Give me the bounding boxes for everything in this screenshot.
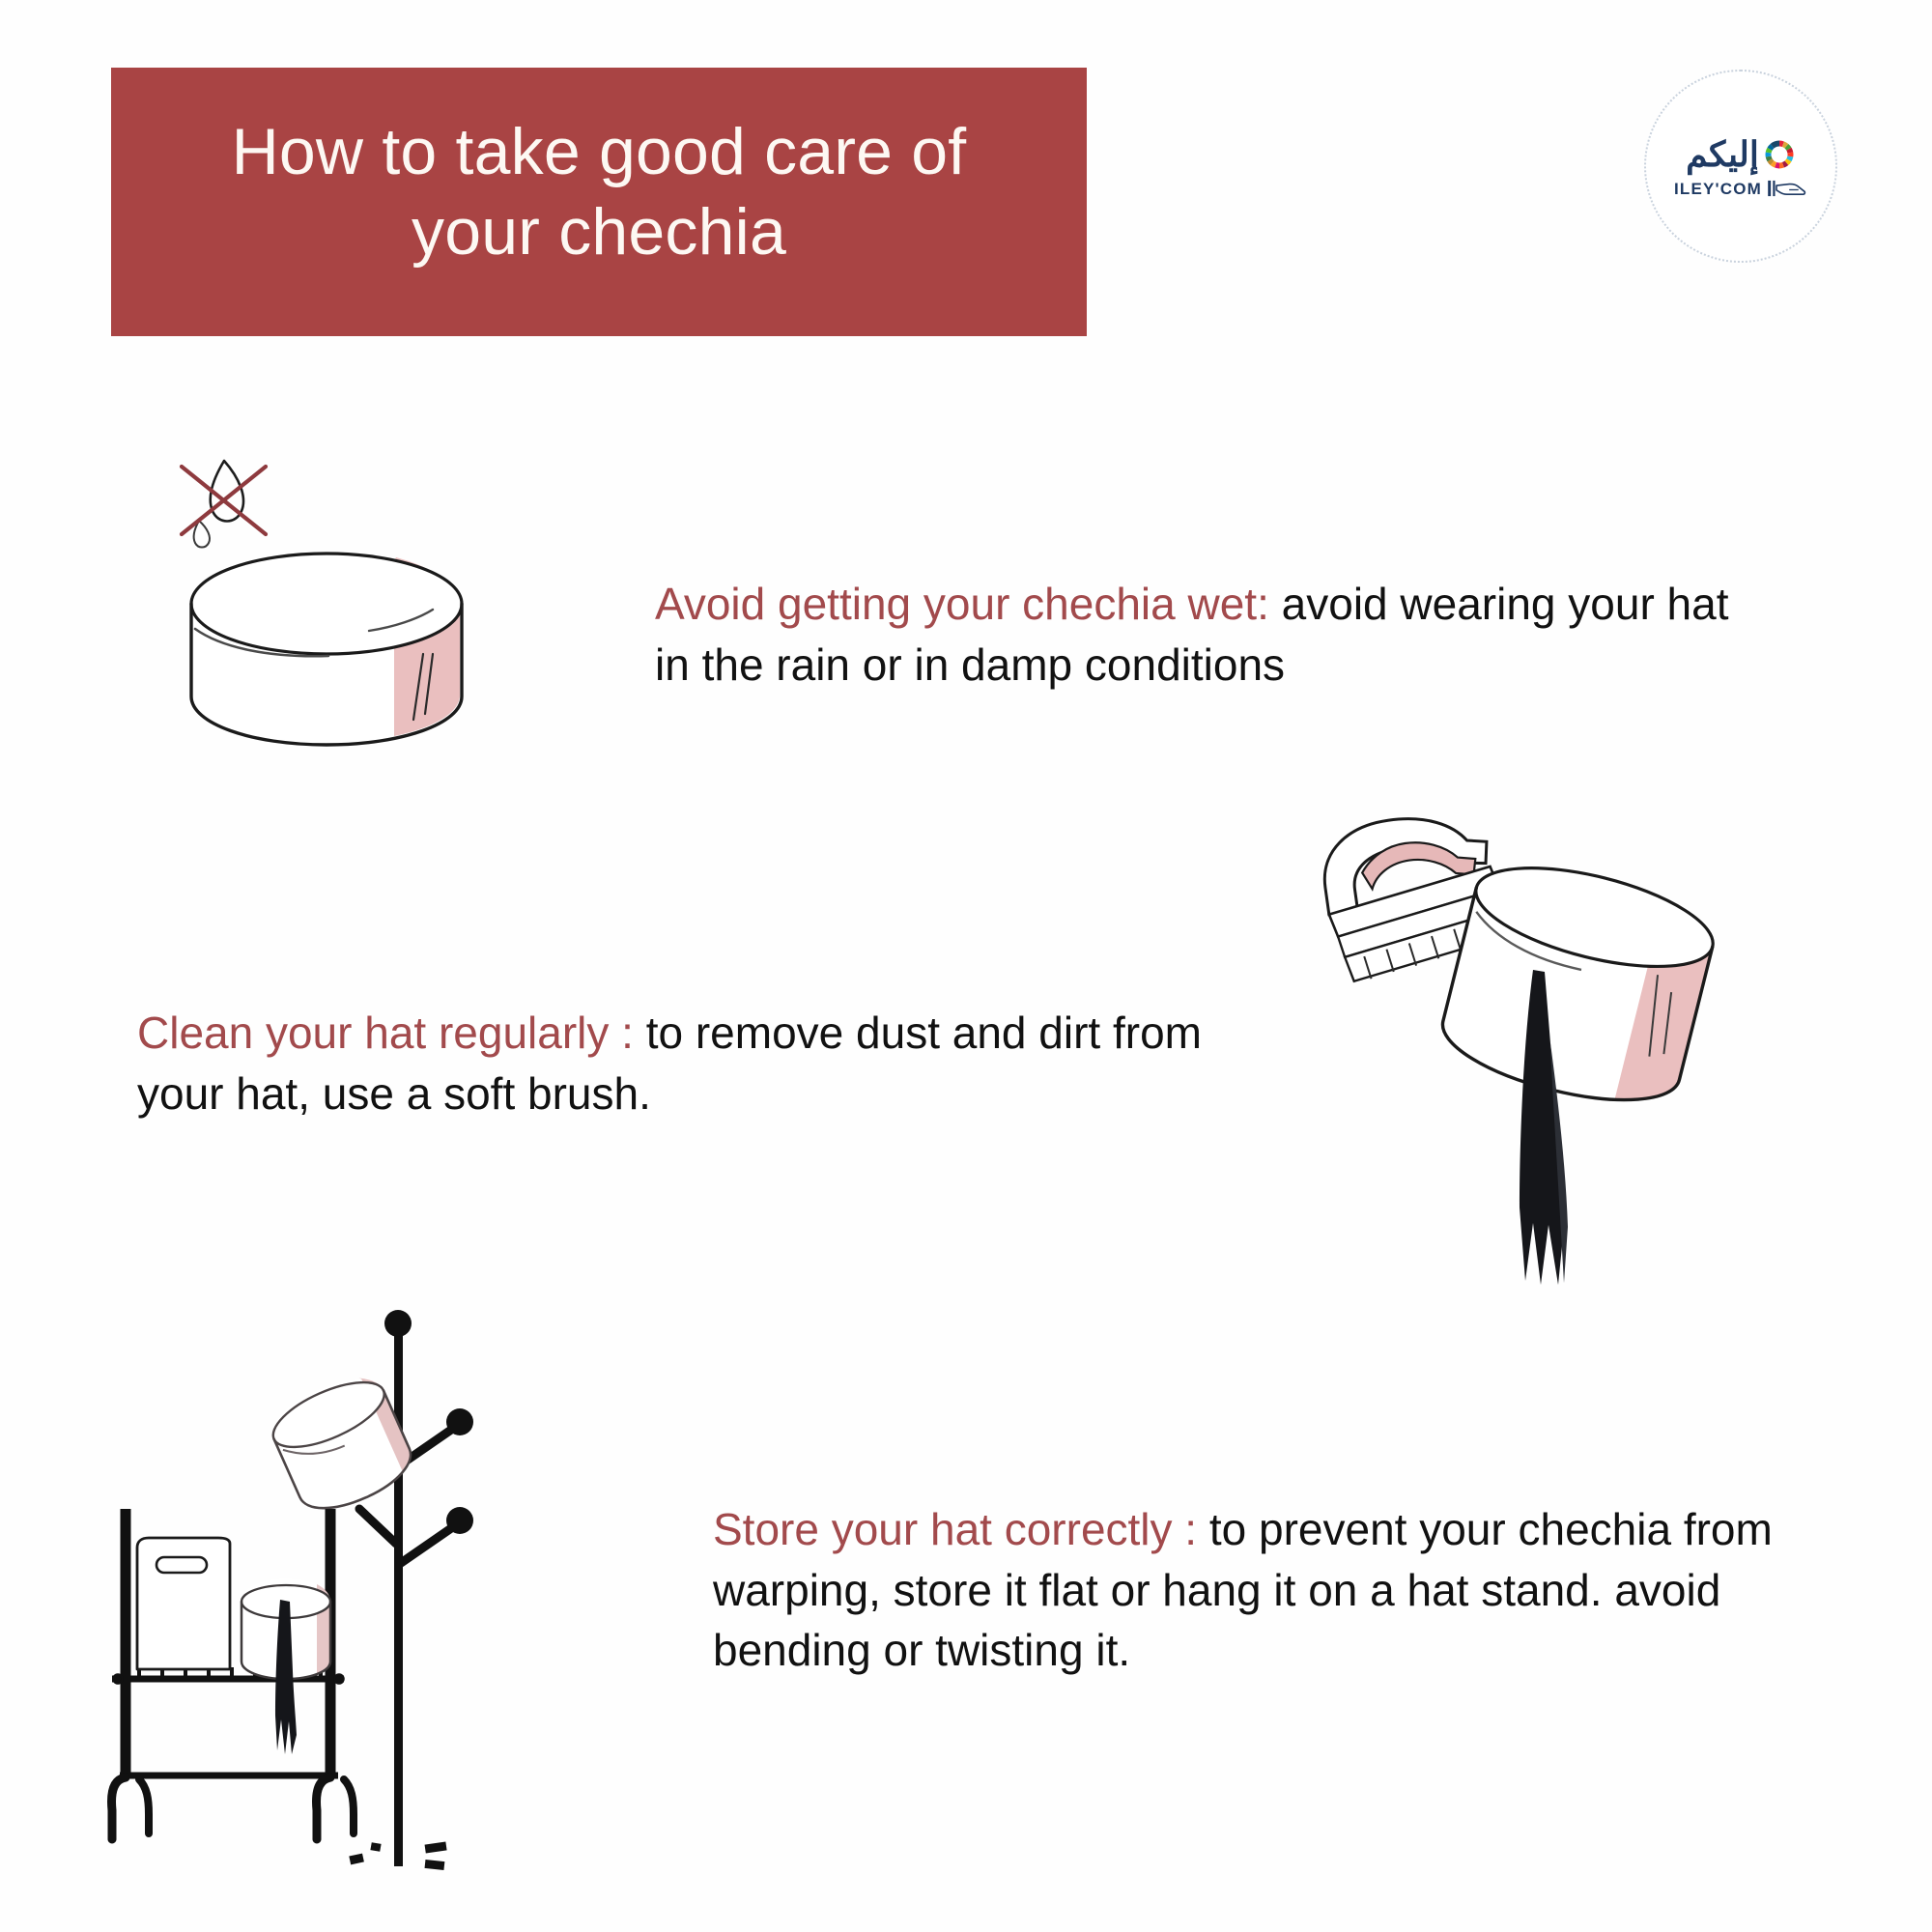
tip-clean-regularly-text: Clean your hat regularly : to remove dus… xyxy=(137,1003,1258,1123)
hand-giving-icon xyxy=(1767,178,1807,199)
storage-box xyxy=(137,1538,230,1669)
brand-logo-inner: إليكم xyxy=(1660,133,1822,199)
no-water-icon xyxy=(182,461,266,548)
logo-bottom-row: ILEY'COM xyxy=(1660,178,1822,199)
tip-store-correctly-text: Store your hat correctly : to prevent yo… xyxy=(713,1499,1853,1681)
chechia-no-water-illustration xyxy=(164,440,570,787)
shelf-and-hat-stand-illustration xyxy=(106,1285,657,1903)
header-banner: How to take good care of your chechia xyxy=(111,68,1087,336)
brand-arabic-name: إليكم xyxy=(1686,137,1759,172)
brush-and-chechia-illustration xyxy=(1309,802,1811,1323)
brand-logo-badge[interactable]: إليكم xyxy=(1644,70,1837,263)
tip-avoid-wet-heading: Avoid getting your chechia wet: xyxy=(655,579,1269,629)
page-title: How to take good care of your chechia xyxy=(111,112,1087,272)
tip-store-correctly-heading: Store your hat correctly : xyxy=(713,1504,1197,1554)
sdg-color-wheel-icon xyxy=(1763,138,1796,171)
logo-top-row: إليكم xyxy=(1660,133,1822,176)
tip-avoid-wet-text: Avoid getting your chechia wet: avoid we… xyxy=(655,574,1747,695)
tip-clean-regularly-heading: Clean your hat regularly : xyxy=(137,1008,634,1058)
tilted-chechia-shape xyxy=(1434,848,1722,1119)
brand-latin-name: ILEY'COM xyxy=(1674,181,1762,197)
chechia-hat-shape xyxy=(191,554,462,745)
